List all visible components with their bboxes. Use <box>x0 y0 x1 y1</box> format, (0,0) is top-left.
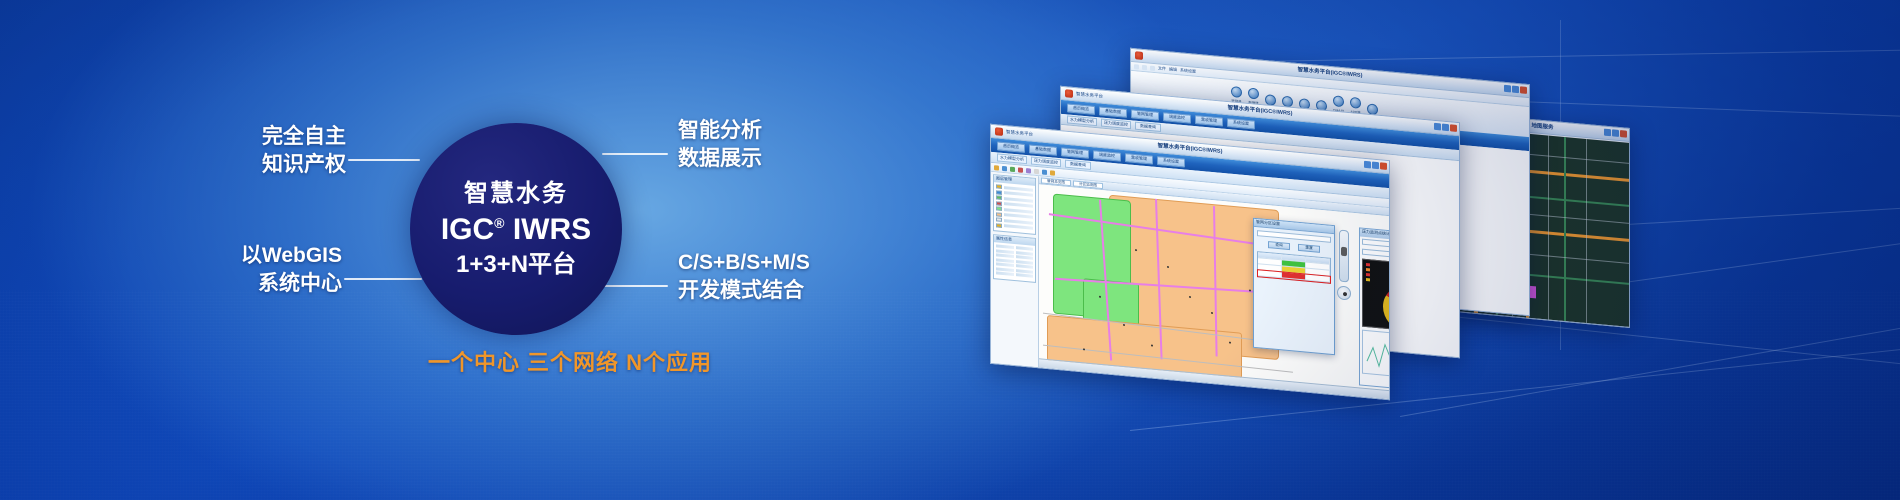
feature-bottom-left-line1: 以WebGIS <box>192 242 342 270</box>
feature-top-left-line2: 知识产权 <box>198 151 346 179</box>
connector-bottom-left <box>344 278 422 280</box>
connector-bottom-right <box>602 285 668 287</box>
feature-bottom-left: 以WebGIS 系统中心 <box>192 242 342 297</box>
feature-diagram: 智慧水务 IGC® IWRS 1+3+N平台 完全自主 知识产权 智能分析 数据… <box>250 95 810 385</box>
feature-top-left-line1: 完全自主 <box>198 123 346 151</box>
badge-igc: IGC <box>441 213 494 246</box>
center-badge[interactable]: 智慧水务 IGC® IWRS 1+3+N平台 <box>410 123 622 335</box>
feature-top-right: 智能分析 数据展示 <box>678 117 762 172</box>
connector-top-left <box>348 159 420 161</box>
badge-line-2: IGC® IWRS <box>441 212 591 248</box>
feature-bottom-right: C/S+B/S+M/S 开发模式结合 <box>678 249 810 304</box>
hero-banner: 地图服务 智慧水务平台(IGC®IWRS) <box>0 0 1900 500</box>
feature-top-left: 完全自主 知识产权 <box>198 123 346 178</box>
badge-iwrs: IWRS <box>513 213 591 246</box>
connector-top-right <box>602 153 668 155</box>
registered-icon: ® <box>494 215 504 231</box>
badge-line-1: 智慧水务 <box>464 179 568 209</box>
tagline: 一个中心 三个网络 N个应用 <box>360 345 780 377</box>
feature-top-right-line1: 智能分析 <box>678 117 762 145</box>
feature-top-right-line2: 数据展示 <box>678 145 762 173</box>
badge-line-3: 1+3+N平台 <box>456 250 576 280</box>
feature-bottom-left-line2: 系统中心 <box>192 270 342 298</box>
feature-bottom-right-line2: 开发模式结合 <box>678 277 810 305</box>
feature-bottom-right-line1: C/S+B/S+M/S <box>678 249 810 277</box>
